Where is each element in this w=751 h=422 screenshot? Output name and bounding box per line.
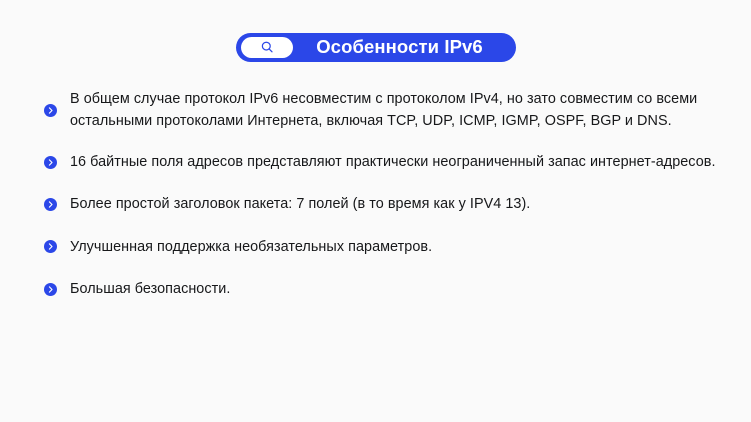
page-title: Особенности IPv6	[293, 38, 512, 57]
slide-title-pill: Особенности IPv6	[236, 33, 516, 62]
list-item-text: Большая безопасности.	[70, 278, 716, 300]
list-item: В общем случае протокол IPv6 несовместим…	[44, 88, 724, 133]
list-item-text: 16 байтные поля адресов представляют пра…	[70, 151, 716, 173]
list-item-text: Улучшенная поддержка необязательных пара…	[70, 236, 716, 258]
search-icon	[260, 40, 275, 55]
chevron-right-circle-icon	[44, 240, 57, 253]
list-item-text: В общем случае протокол IPv6 несовместим…	[70, 88, 716, 133]
chevron-right-circle-icon	[44, 104, 57, 117]
list-item: Большая безопасности.	[44, 278, 724, 300]
chevron-right-circle-icon	[44, 198, 57, 211]
slide-canvas: Особенности IPv6 В общем случае протокол…	[0, 0, 751, 422]
bullet-list: В общем случае протокол IPv6 несовместим…	[44, 88, 724, 320]
chevron-right-circle-icon	[44, 156, 57, 169]
list-item: Более простой заголовок пакета: 7 полей …	[44, 193, 724, 215]
list-item: Улучшенная поддержка необязательных пара…	[44, 236, 724, 258]
chevron-right-circle-icon	[44, 283, 57, 296]
list-item: 16 байтные поля адресов представляют пра…	[44, 151, 724, 173]
list-item-text: Более простой заголовок пакета: 7 полей …	[70, 193, 716, 215]
search-icon-badge	[241, 37, 293, 58]
